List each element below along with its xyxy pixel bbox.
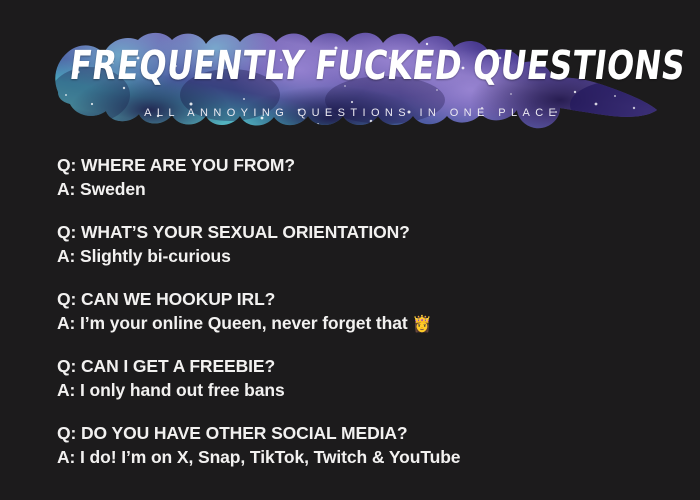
faq-item: Q: CAN I GET A FREEBIE? A: I only hand o… [57, 355, 657, 402]
faq-answer: A: I only hand out free bans [57, 380, 285, 400]
faq-answer: A: Slightly bi-curious [57, 246, 231, 266]
faq-question: Q: WHAT’S YOUR SEXUAL ORIENTATION? [57, 221, 657, 245]
faq-question: Q: CAN WE HOOKUP IRL? [57, 288, 657, 312]
faq-question: Q: DO YOU HAVE OTHER SOCIAL MEDIA? [57, 422, 657, 446]
faq-answer-row: A: Sweden [57, 178, 657, 202]
faq-answer-row: A: Slightly bi-curious [57, 245, 657, 269]
faq-answer: A: Sweden [57, 179, 146, 199]
faq-answer-row: A: I only hand out free bans [57, 379, 657, 403]
faq-question: Q: CAN I GET A FREEBIE? [57, 355, 657, 379]
princess-emoji: 👸 [412, 314, 432, 333]
galaxy-brush-stroke-graphic [0, 0, 700, 150]
faq-page: FREQUENTLY FUCKED QUESTIONS ALL ANNOYING… [0, 0, 700, 500]
faq-question: Q: WHERE ARE YOU FROM? [57, 154, 657, 178]
faq-answer: A: I do! I’m on X, Snap, TikTok, Twitch … [57, 447, 460, 467]
faq-item: Q: WHERE ARE YOU FROM? A: Sweden [57, 154, 657, 201]
faq-answer-row: A: I’m your online Queen, never forget t… [57, 312, 657, 336]
faq-answer: A: I’m your online Queen, never forget t… [57, 313, 408, 333]
brush-stroke-fill [40, 13, 690, 150]
faq-item: Q: WHAT’S YOUR SEXUAL ORIENTATION? A: Sl… [57, 221, 657, 268]
faq-item: Q: DO YOU HAVE OTHER SOCIAL MEDIA? A: I … [57, 422, 657, 469]
faq-answer-row: A: I do! I’m on X, Snap, TikTok, Twitch … [57, 446, 657, 470]
faq-list: Q: WHERE ARE YOU FROM? A: Sweden Q: WHAT… [57, 154, 657, 469]
banner-header: FREQUENTLY FUCKED QUESTIONS ALL ANNOYING… [0, 0, 700, 150]
faq-item: Q: CAN WE HOOKUP IRL? A: I’m your online… [57, 288, 657, 335]
